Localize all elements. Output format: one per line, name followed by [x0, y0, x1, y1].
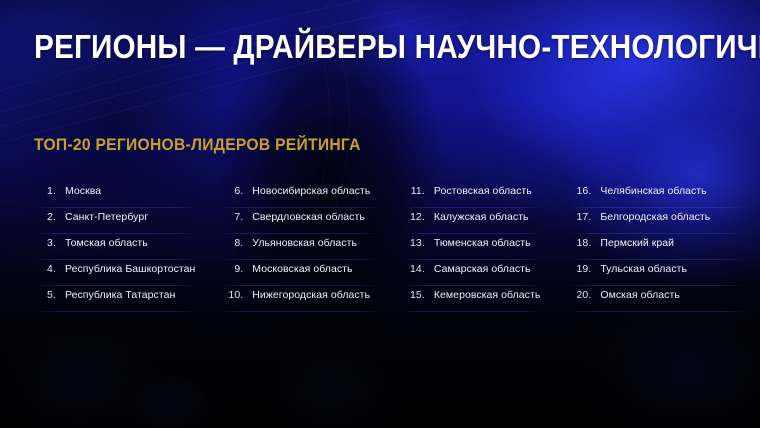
rank-number: 2.	[34, 208, 56, 226]
list-item: 14. Самарская область	[403, 260, 556, 286]
slide-subtitle: ТОП-20 РЕГИОНОВ-ЛИДЕРОВ РЕЙТИНГА	[34, 134, 361, 155]
list-item: 1. Москва	[34, 182, 211, 208]
rank-region-name: Белгородская область	[600, 208, 710, 226]
list-item: 13. Тюменская область	[403, 234, 556, 260]
list-item: 19. Тульская область	[569, 260, 760, 286]
rank-number: 1.	[34, 182, 56, 200]
list-item: 11. Ростовская область	[403, 182, 556, 208]
rank-number: 19.	[569, 260, 591, 278]
rank-number: 20.	[569, 286, 591, 304]
list-item: 9. Московская область	[221, 260, 393, 286]
rank-number: 15.	[403, 286, 425, 304]
rank-number: 9.	[221, 260, 243, 278]
rank-region-name: Республика Башкортостан	[65, 260, 195, 278]
list-item: 10. Нижегородская область	[221, 286, 393, 312]
rank-region-name: Нижегородская область	[252, 286, 370, 304]
slide-content: РЕГИОНЫ — ДРАЙВЕРЫ НАУЧНО-ТЕХНОЛОГИЧЕСКО…	[0, 0, 760, 428]
rank-region-name: Тульская область	[600, 260, 687, 278]
list-item: 18. Пермский край	[569, 234, 760, 260]
list-item: 15. Кемеровская область	[403, 286, 556, 312]
rank-region-name: Ульяновская область	[252, 234, 357, 252]
rank-region-name: Челябинская область	[600, 182, 706, 200]
list-item: 12. Калужская область	[403, 208, 556, 234]
rank-region-name: Московская область	[252, 260, 352, 278]
rank-number: 6.	[221, 182, 243, 200]
rank-number: 14.	[403, 260, 425, 278]
rank-region-name: Республика Татарстан	[65, 286, 175, 304]
rank-number: 10.	[221, 286, 243, 304]
list-item: 5. Республика Татарстан	[34, 286, 211, 312]
rank-number: 3.	[34, 234, 56, 252]
rank-number: 7.	[221, 208, 243, 226]
rank-region-name: Пермский край	[600, 234, 674, 252]
rank-region-name: Новосибирская область	[252, 182, 370, 200]
list-item: 3. Томская область	[34, 234, 211, 260]
list-item: 16. Челябинская область	[569, 182, 760, 208]
list-item: 7. Свердловская область	[221, 208, 393, 234]
presentation-slide: РЕГИОНЫ — ДРАЙВЕРЫ НАУЧНО-ТЕХНОЛОГИЧЕСКО…	[0, 0, 760, 428]
slide-title: РЕГИОНЫ — ДРАЙВЕРЫ НАУЧНО-ТЕХНОЛОГИЧЕСКО…	[34, 28, 664, 66]
ranking-column-3: 11. Ростовская область 12. Калужская обл…	[393, 182, 556, 312]
list-item: 20. Омская область	[569, 286, 760, 312]
list-item: 6. Новосибирская область	[221, 182, 393, 208]
rank-number: 8.	[221, 234, 243, 252]
rank-region-name: Москва	[65, 182, 101, 200]
list-item: 8. Ульяновская область	[221, 234, 393, 260]
rank-number: 17.	[569, 208, 591, 226]
rank-region-name: Самарская область	[434, 260, 531, 278]
ranking-column-2: 6. Новосибирская область 7. Свердловская…	[211, 182, 393, 312]
rank-number: 18.	[569, 234, 591, 252]
ranking-list: 1. Москва 2. Санкт-Петербург 3. Томская …	[0, 182, 760, 312]
rank-region-name: Кемеровская область	[434, 286, 541, 304]
rank-region-name: Свердловская область	[252, 208, 365, 226]
ranking-column-1: 1. Москва 2. Санкт-Петербург 3. Томская …	[0, 182, 211, 312]
rank-region-name: Томская область	[65, 234, 148, 252]
rank-number: 13.	[403, 234, 425, 252]
rank-region-name: Калужская область	[434, 208, 529, 226]
rank-number: 11.	[403, 182, 425, 200]
list-item: 17. Белгородская область	[569, 208, 760, 234]
ranking-column-4: 16. Челябинская область 17. Белгородская…	[555, 182, 760, 312]
rank-number: 4.	[34, 260, 56, 278]
rank-region-name: Санкт-Петербург	[65, 208, 148, 226]
rank-region-name: Тюменская область	[434, 234, 531, 252]
rank-number: 16.	[569, 182, 591, 200]
rank-region-name: Ростовская область	[434, 182, 532, 200]
list-item: 4. Республика Башкортостан	[34, 260, 211, 286]
list-item: 2. Санкт-Петербург	[34, 208, 211, 234]
rank-number: 5.	[34, 286, 56, 304]
rank-number: 12.	[403, 208, 425, 226]
rank-region-name: Омская область	[600, 286, 679, 304]
